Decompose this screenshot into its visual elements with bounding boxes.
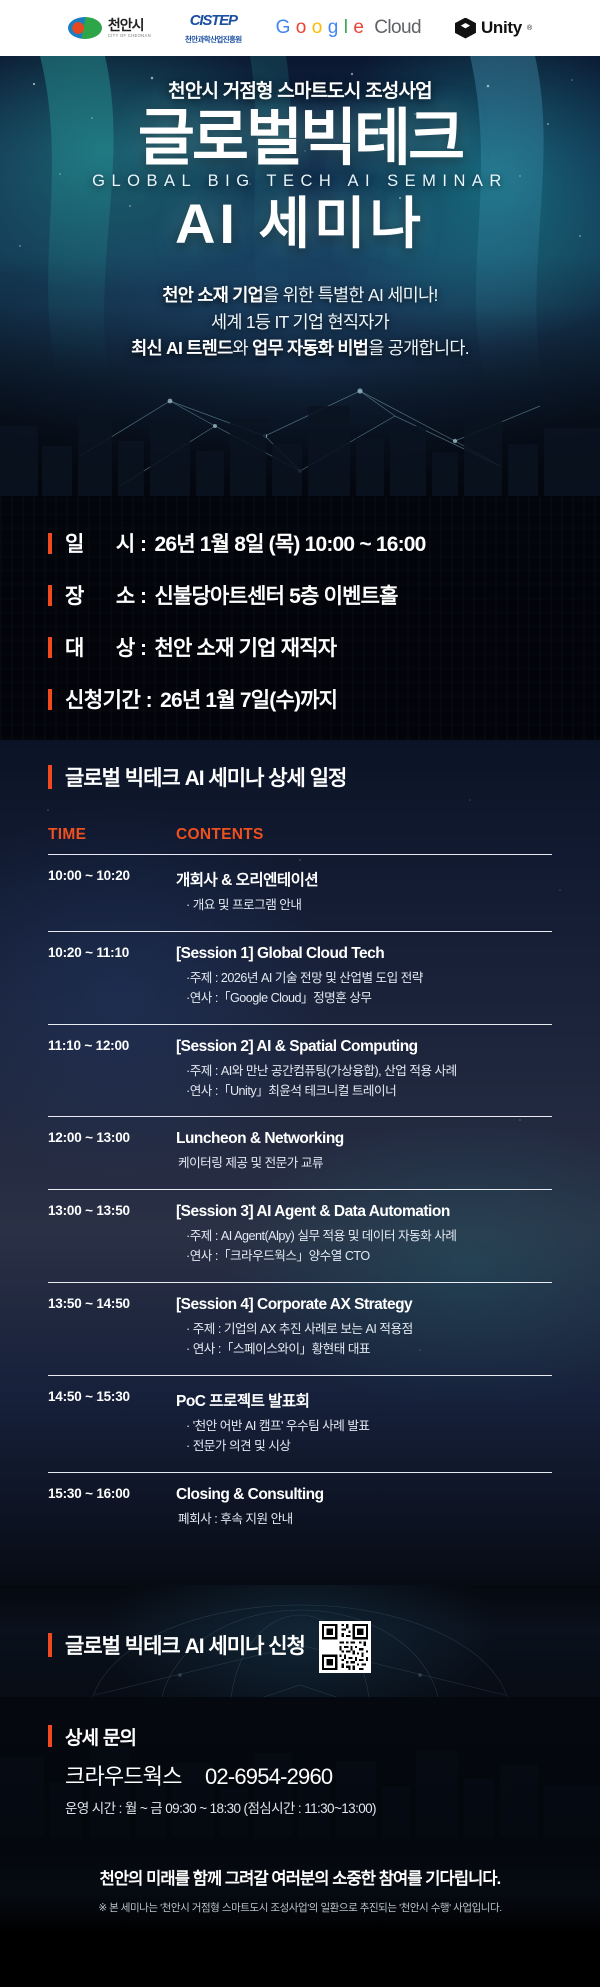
unity-registered-mark: ® bbox=[527, 25, 532, 32]
gcloud-letter-g2: g bbox=[328, 17, 338, 39]
cistep-logo-abbr: CISTEP bbox=[190, 13, 237, 28]
accent-bar-icon bbox=[48, 637, 52, 658]
info-row-deadline: 신청기간 : 26년 1월 7일(수)까지 bbox=[0, 684, 600, 714]
cheonan-logo-english: CITY OF CHEONAN bbox=[108, 34, 151, 38]
row-time: 13:50 ~ 14:50 bbox=[48, 1296, 176, 1311]
apply-title: 글로벌 빅테크 AI 세미나 신청 bbox=[65, 1630, 305, 1660]
contact-phone[interactable]: 02-6954-2960 bbox=[205, 1764, 332, 1789]
hero-lead3-bold-1: 최신 AI 트렌드 bbox=[131, 338, 232, 358]
schedule-section-title: 글로벌 빅테크 AI 세미나 상세 일정 bbox=[65, 762, 346, 792]
hero-lead-line-2: 세계 1등 IT 기업 현직자가 bbox=[0, 309, 600, 336]
schedule-table-header-row: TIME CONTENTS bbox=[48, 826, 552, 855]
unity-logo-label: Unity bbox=[481, 18, 522, 38]
hero-lead3-mid: 와 bbox=[233, 338, 253, 358]
row-time: 15:30 ~ 16:00 bbox=[48, 1486, 176, 1501]
row-detail: · 주제 : 기업의 AX 추진 사례로 보는 AI 적용점 bbox=[176, 1320, 552, 1340]
footer-disclaimer: ※ 본 세미나는 '천안시 거점형 스마트도시 조성사업'의 일환으로 추진되는… bbox=[0, 1900, 600, 1915]
event-info-block: 일 시 : 26년 1월 8일 (목) 10:00 ~ 16:00 장 소 : … bbox=[0, 496, 600, 740]
hero-title-sub: AI 세미나 bbox=[0, 195, 600, 254]
info-label-deadline: 신청기간 : bbox=[65, 684, 152, 714]
hero-lead3-bold-2: 업무 자동화 비법 bbox=[252, 338, 368, 358]
table-row: 10:20 ~ 11:10 [Session 1] Global Cloud T… bbox=[48, 931, 552, 1024]
table-row: 11:10 ~ 12:00 [Session 2] AI & Spatial C… bbox=[48, 1024, 552, 1117]
cheonan-emblem-icon bbox=[68, 17, 102, 39]
hero-title-english: GLOBAL BIG TECH AI SEMINAR bbox=[0, 172, 600, 191]
accent-bar-icon bbox=[48, 765, 52, 789]
accent-bar-icon bbox=[48, 585, 52, 606]
footer-message: 천안의 미래를 함께 그려갈 여러분의 소중한 참여를 기다립니다. bbox=[0, 1865, 600, 1889]
row-time: 10:00 ~ 10:20 bbox=[48, 868, 176, 883]
row-detail: ·주제 : AI와 만난 공간컴퓨팅(가상융합), 산업 적용 사례 bbox=[176, 1062, 552, 1082]
gcloud-word-cloud: Cloud bbox=[374, 17, 421, 39]
table-row: 15:30 ~ 16:00 Closing & Consulting 폐회사 :… bbox=[48, 1472, 552, 1544]
sponsor-logo-bar: 천안시 CITY OF CHEONAN CISTEP 천안과학산업진흥원 Goo… bbox=[0, 0, 600, 56]
table-row: 14:50 ~ 15:30 PoC 프로젝트 발표회 · '천안 어반 AI 캠… bbox=[48, 1375, 552, 1472]
row-time: 14:50 ~ 15:30 bbox=[48, 1389, 176, 1404]
row-time: 11:10 ~ 12:00 bbox=[48, 1038, 176, 1053]
row-detail: ·주제 : AI Agent(Alpy) 실무 적용 및 데이터 자동화 사례 bbox=[176, 1227, 552, 1247]
contact-hours: 운영 시간 : 월 ~ 금 09:30 ~ 18:30 (점심시간 : 11:3… bbox=[0, 1797, 600, 1817]
accent-bar-icon bbox=[48, 689, 52, 710]
cistep-logo-korean: 천안과학산업진흥원 bbox=[185, 36, 242, 44]
apply-section: 글로벌 빅테크 AI 세미나 신청 bbox=[0, 1585, 600, 1697]
row-title: [Session 2] AI & Spatial Computing bbox=[176, 1038, 552, 1056]
hero-banner: 천안시 거점형 스마트도시 조성사업 글로벌빅테크 GLOBAL BIG TEC… bbox=[0, 56, 600, 496]
cheonan-city-logo: 천안시 CITY OF CHEONAN bbox=[68, 17, 151, 39]
row-title: [Session 1] Global Cloud Tech bbox=[176, 945, 552, 963]
contact-company: 크라우드웍스 bbox=[65, 1764, 182, 1789]
qr-code-icon[interactable] bbox=[319, 1621, 371, 1673]
schedule-section: 글로벌 빅테크 AI 세미나 상세 일정 TIME CONTENTS 10:00… bbox=[0, 740, 600, 1585]
table-row: 13:00 ~ 13:50 [Session 3] AI Agent & Dat… bbox=[48, 1190, 552, 1283]
hero-lead1-bold: 천안 소재 기업 bbox=[162, 285, 263, 305]
row-detail: · 연사 :「스페이스와이」황현태 대표 bbox=[176, 1340, 552, 1360]
schedule-col-time: TIME bbox=[48, 826, 176, 855]
row-detail: ·주제 : 2026년 AI 기술 전망 및 산업별 도입 전략 bbox=[176, 969, 552, 989]
unity-logo: Unity ® bbox=[455, 18, 532, 39]
info-row-audience: 대 상 : 천안 소재 기업 재직자 bbox=[0, 632, 600, 662]
table-row: 12:00 ~ 13:00 Luncheon & Networking 케이터링… bbox=[48, 1117, 552, 1190]
row-detail: · 개요 및 프로그램 안내 bbox=[176, 896, 552, 916]
hero-lead-line-1: 천안 소재 기업을 위한 특별한 AI 세미나! bbox=[0, 282, 600, 309]
row-detail: ·연사 :「Unity」최윤석 테크니컬 트레이너 bbox=[176, 1082, 552, 1102]
google-cloud-logo: GoogleCloud bbox=[276, 17, 421, 39]
row-detail: ·연사 :「Google Cloud」정명훈 상무 bbox=[176, 989, 552, 1009]
cistep-logo: CISTEP 천안과학산업진흥원 bbox=[185, 13, 242, 44]
contact-title: 상세 문의 bbox=[65, 1723, 136, 1750]
info-row-venue: 장 소 : 신불당아트센터 5층 이벤트홀 bbox=[0, 580, 600, 610]
row-title: [Session 4] Corporate AX Strategy bbox=[176, 1296, 552, 1314]
contact-header: 상세 문의 bbox=[0, 1723, 600, 1750]
row-time: 12:00 ~ 13:00 bbox=[48, 1130, 176, 1145]
gcloud-letter-g: G bbox=[276, 17, 290, 39]
row-detail: 케이터링 제공 및 전문가 교류 bbox=[176, 1154, 552, 1174]
row-detail: · 전문가 의견 및 시상 bbox=[176, 1437, 552, 1457]
table-row: 13:50 ~ 14:50 [Session 4] Corporate AX S… bbox=[48, 1283, 552, 1376]
seminar-poster: 천안시 CITY OF CHEONAN CISTEP 천안과학산업진흥원 Goo… bbox=[0, 0, 600, 1987]
row-detail: 폐회사 : 후속 지원 안내 bbox=[176, 1510, 552, 1530]
table-row: 10:00 ~ 10:20 개회사 & 오리엔테이션 · 개요 및 프로그램 안… bbox=[48, 855, 552, 932]
info-label-date: 일 시 : bbox=[65, 528, 146, 558]
info-value-deadline: 26년 1월 7일(수)까지 bbox=[160, 684, 337, 714]
info-value-venue: 신불당아트센터 5층 이벤트홀 bbox=[154, 580, 397, 610]
row-detail: ·연사 :「크라우드웍스」양수열 CTO bbox=[176, 1247, 552, 1267]
hero-title-main: 글로벌빅테크 bbox=[0, 107, 600, 170]
contact-main-line: 크라우드웍스 02-6954-2960 bbox=[0, 1759, 600, 1791]
info-row-date: 일 시 : 26년 1월 8일 (목) 10:00 ~ 16:00 bbox=[0, 528, 600, 558]
accent-bar-icon bbox=[48, 1725, 52, 1747]
info-label-venue: 장 소 : bbox=[65, 580, 146, 610]
gcloud-letter-l: l bbox=[344, 17, 348, 39]
row-detail: · '천안 어반 AI 캠프' 우수팀 사례 발표 bbox=[176, 1417, 552, 1437]
info-label-audience: 대 상 : bbox=[65, 632, 146, 662]
schedule-col-contents: CONTENTS bbox=[176, 826, 552, 855]
accent-bar-icon bbox=[48, 1633, 52, 1657]
unity-cube-icon bbox=[455, 18, 476, 39]
gcloud-letter-o1: o bbox=[296, 17, 306, 39]
row-time: 13:00 ~ 13:50 bbox=[48, 1203, 176, 1218]
row-title: Luncheon & Networking bbox=[176, 1130, 552, 1148]
hero-lead1-rest: 을 위한 특별한 AI 세미나! bbox=[263, 285, 438, 305]
apply-header: 글로벌 빅테크 AI 세미나 신청 bbox=[0, 1619, 600, 1671]
info-value-audience: 천안 소재 기업 재직자 bbox=[154, 632, 336, 662]
row-title: PoC 프로젝트 발표회 bbox=[176, 1389, 552, 1411]
row-time: 10:20 ~ 11:10 bbox=[48, 945, 176, 960]
cheonan-logo-korean: 천안시 bbox=[108, 18, 151, 32]
footer-section: 천안의 미래를 함께 그려갈 여러분의 소중한 참여를 기다립니다. ※ 본 세… bbox=[0, 1839, 600, 1935]
hero-kicker: 천안시 거점형 스마트도시 조성사업 bbox=[0, 76, 600, 103]
schedule-table: TIME CONTENTS 10:00 ~ 10:20 개회사 & 오리엔테이션… bbox=[48, 826, 552, 1545]
contact-section: 상세 문의 크라우드웍스 02-6954-2960 운영 시간 : 월 ~ 금 … bbox=[0, 1697, 600, 1839]
hero-lead-line-3: 최신 AI 트렌드와 업무 자동화 비법을 공개합니다. bbox=[0, 335, 600, 362]
accent-bar-icon bbox=[48, 533, 52, 554]
row-title: 개회사 & 오리엔테이션 bbox=[176, 868, 552, 890]
gcloud-letter-o2: o bbox=[312, 17, 322, 39]
info-value-date: 26년 1월 8일 (목) 10:00 ~ 16:00 bbox=[154, 528, 425, 558]
hero-lead3-rest: 을 공개합니다. bbox=[368, 338, 469, 358]
hero-lead-block: 천안 소재 기업을 위한 특별한 AI 세미나! 세계 1등 IT 기업 현직자… bbox=[0, 282, 600, 362]
gcloud-letter-e: e bbox=[353, 17, 363, 39]
schedule-header: 글로벌 빅테크 AI 세미나 상세 일정 bbox=[0, 762, 600, 792]
row-title: [Session 3] AI Agent & Data Automation bbox=[176, 1203, 552, 1221]
row-title: Closing & Consulting bbox=[176, 1486, 552, 1504]
